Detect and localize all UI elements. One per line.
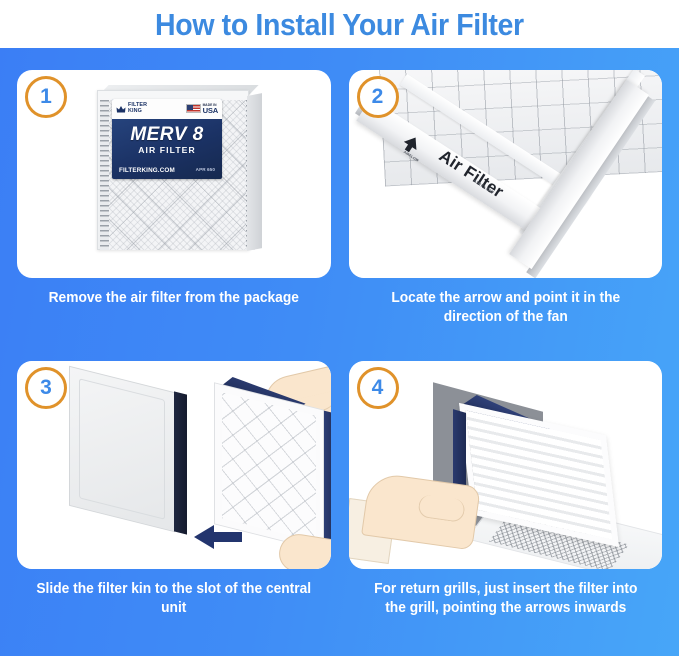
made-in-usa-text: MADE IN USA xyxy=(203,104,218,115)
filter-front-face: FILTER KING MADE IN USA xyxy=(97,90,249,250)
step-1-badge: 1 xyxy=(25,76,67,118)
website-text: FILTERKING.COM xyxy=(119,167,175,174)
crown-icon xyxy=(116,105,126,114)
unit-slot-front xyxy=(69,366,175,532)
step-1: 1 xyxy=(17,70,331,357)
made-in-usa-badge: MADE IN USA xyxy=(186,104,218,115)
page-title: How to Install Your Air Filter xyxy=(155,9,524,40)
product-label-header: FILTER KING MADE IN USA xyxy=(112,99,222,119)
step-3: 3 xyxy=(17,361,331,648)
direction-arrow-icon xyxy=(192,521,244,553)
step-4-caption: For return grills, just insert the filte… xyxy=(356,580,654,619)
step-4-card: 4 xyxy=(349,361,663,569)
country-label: USA xyxy=(203,107,218,115)
step-2-caption: Locate the arrow and point it in the dir… xyxy=(356,289,654,328)
filter-pleats-left xyxy=(100,100,109,250)
step-1-caption: Remove the air filter from the package xyxy=(25,289,323,308)
merv-rating: MERV 8 xyxy=(112,125,222,144)
step-3-card: 3 xyxy=(17,361,331,569)
product-subtitle: AIR FILTER xyxy=(112,145,222,155)
filter-side-face xyxy=(247,93,262,251)
step-1-card: 1 xyxy=(17,70,331,278)
infographic-root: How to Install Your Air Filter 1 xyxy=(0,0,679,656)
product-label-footer: FILTERKING.COM APR 650 xyxy=(112,167,222,174)
step-3-badge: 3 xyxy=(25,367,67,409)
unit-slot-opening xyxy=(174,391,187,534)
filter-king-wordmark: FILTER KING xyxy=(128,103,147,114)
step-4-badge: 4 xyxy=(357,367,399,409)
apr-rating-text: APR 650 xyxy=(196,167,215,174)
step-2-badge: 2 xyxy=(357,76,399,118)
step-2: 2 AIRFLOW Air Filter xyxy=(349,70,663,357)
brand-line-2: KING xyxy=(128,108,142,114)
air-filter-product-photo: FILTER KING MADE IN USA xyxy=(91,86,261,256)
step-2-card: 2 AIRFLOW Air Filter xyxy=(349,70,663,278)
header-band: How to Install Your Air Filter xyxy=(0,0,679,48)
filter-king-logo: FILTER KING xyxy=(116,103,147,114)
steps-grid: 1 xyxy=(0,48,679,656)
step-4: 4 For return grills, just inse xyxy=(349,361,663,648)
product-label: FILTER KING MADE IN USA xyxy=(112,99,222,179)
us-flag-icon xyxy=(186,104,201,113)
step-3-caption: Slide the filter kin to the slot of the … xyxy=(25,580,323,619)
